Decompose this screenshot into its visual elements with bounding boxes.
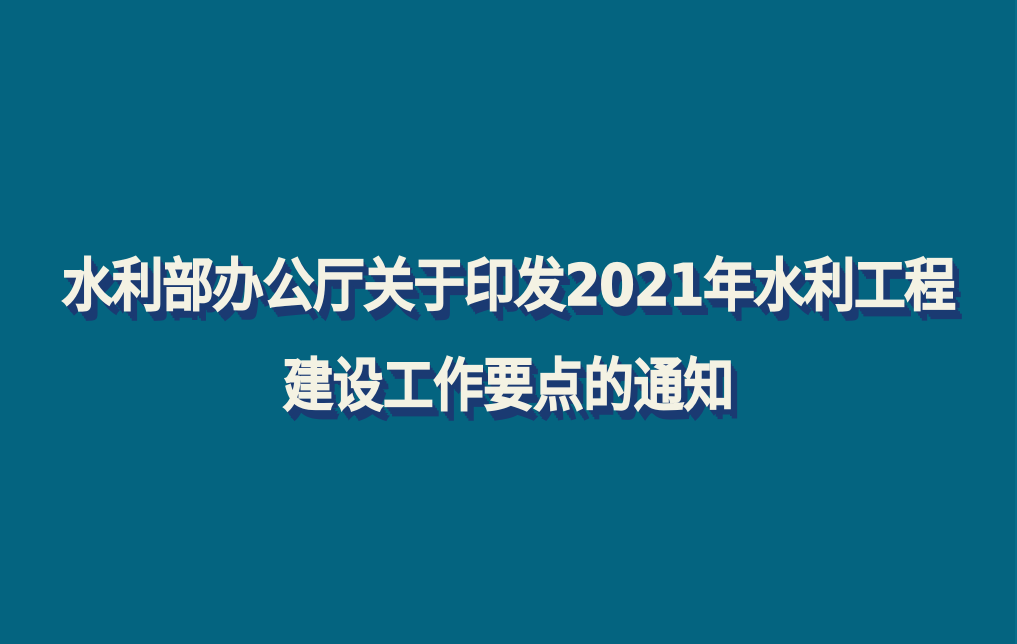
- title-block: 水利部办公厅关于印发2021年水利工程 建设工作要点的通知: [0, 236, 1017, 436]
- title-line-1: 水利部办公厅关于印发2021年水利工程: [62, 236, 955, 336]
- poster-canvas: 水利部办公厅关于印发2021年水利工程 建设工作要点的通知: [0, 0, 1017, 644]
- title-line-2: 建设工作要点的通知: [283, 336, 734, 436]
